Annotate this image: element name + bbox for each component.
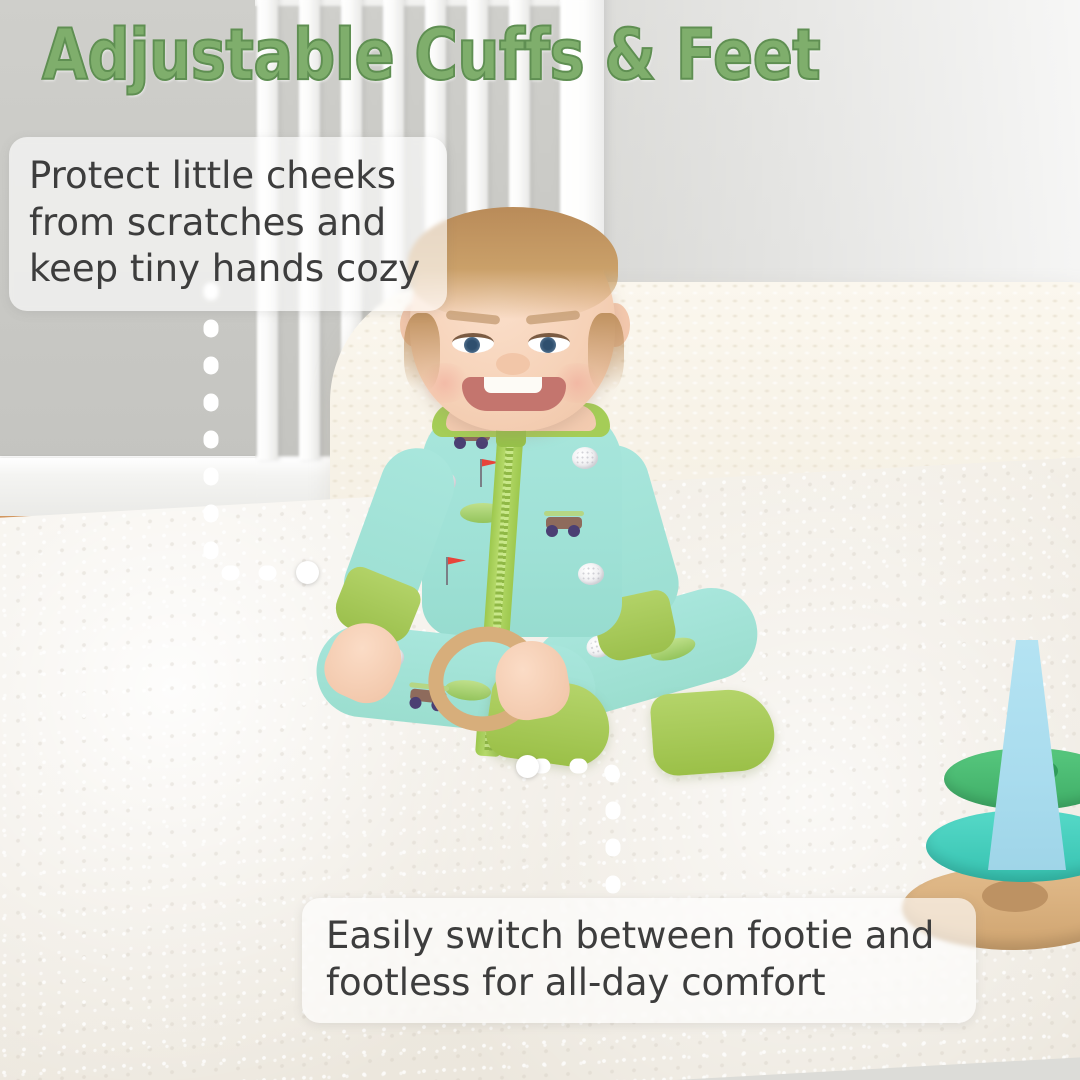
baby-eye-left [452,333,494,353]
baby-eye-right [528,333,570,353]
baby-hair-right [588,313,624,391]
baby-nose [496,353,530,375]
callout-cheeks: Protect little cheeks from scratches and… [9,137,447,311]
golf-ball-motif [578,563,604,585]
callout-footie: Easily switch between footie and footles… [302,898,976,1023]
golf-ball-motif [572,447,598,469]
red-flag-motif [446,557,448,585]
product-feature-infographic: Adjustable Cuffs & Feet Protect little c… [0,0,1080,1080]
page-title: Adjustable Cuffs & Feet [42,14,820,96]
baby-mouth [462,377,566,411]
cheeks-leader-endpoint-dot [296,561,319,584]
footie-leader-endpoint-dot [516,755,539,778]
golf-cart-motif [542,511,586,537]
baby-hair-left [404,313,440,391]
red-flag-motif [480,459,482,487]
foot-cuff-right [649,687,776,777]
